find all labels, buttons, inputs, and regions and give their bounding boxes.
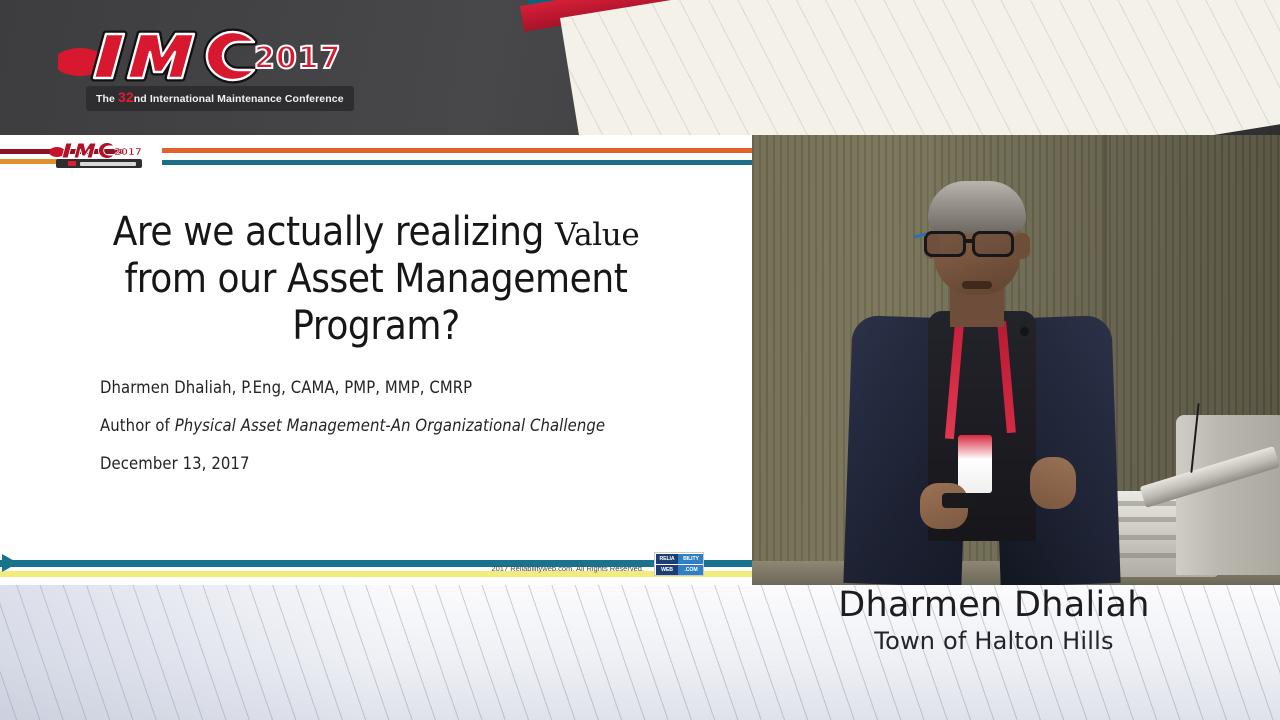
slide-header-bars: 2017 [0,135,752,183]
slide-bar-orange-right [162,148,752,153]
conference-banner: 2017 The 32nd International Maintenance … [0,0,1280,135]
tagline-number: 32 [118,89,134,105]
speaker-name: Dharmen Dhaliah [784,587,1204,625]
badge-word-web: WEB [656,565,678,575]
speaker-hair [928,181,1026,233]
slide-logo-tagline-text [80,162,136,166]
slide-bar-teal-right [162,160,752,165]
slide-title-part1: Are we actually realizing [113,209,555,255]
slide-footer-bars: 2017 Reliabilityweb.com. All Rights Rese… [0,545,752,585]
speaker-organization: Town of Halton Hills [784,627,1204,655]
badge-word-bility: BILITY [678,554,704,564]
badge-word-com: .COM [678,565,704,575]
eyeglass-lens-right [972,231,1014,257]
svg-text:2017: 2017 [114,147,142,158]
banner-hatch-pattern [560,0,1280,135]
imc-wordmark-icon: 2017 [58,22,358,88]
slide-pane[interactable]: 2017 Are we actually realizing Value fro… [0,135,752,585]
slide-title-part2: from our Asset Management Program? [125,256,628,349]
banner-white-hatch-wedge [560,0,1280,135]
slide-logo-accent [68,161,76,166]
slide-copyright: 2017 Reliabilityweb.com. All Rights Rese… [491,564,644,573]
speaker-video[interactable] [752,135,1280,585]
slide-book-title: Physical Asset Management-An Organizatio… [175,416,605,435]
presentation-clicker [942,493,976,508]
svg-text:2017: 2017 [254,41,342,76]
slide-subtitle-block: Dharmen Dhaliah, P.Eng, CAMA, PMP, MMP, … [100,378,720,492]
imc-tagline: The 32nd International Maintenance Confe… [86,86,354,111]
tagline-post: International Maintenance Conference [147,93,344,105]
slide-date-line: December 13, 2017 [100,454,720,473]
slide-author-prefix: Author of [100,416,175,435]
eyeglass-bridge [966,239,974,243]
lower-third-shading [0,585,470,720]
speaker-identification: Dharmen Dhaliah Town of Halton Hills [784,587,1204,655]
podium-column [1176,415,1280,575]
presentation-player: 2017 The 32nd International Maintenance … [0,0,1280,720]
speaker-hand-right [1030,457,1076,509]
reliabilityweb-logo: RELIA BILITY WEB .COM [654,552,704,576]
eyeglasses-icon [922,231,1034,257]
badge-word-relia: RELIA [656,554,678,564]
lapel-microphone-icon [1020,327,1029,336]
slide-credentials-line: Dharmen Dhaliah, P.Eng, CAMA, PMP, MMP, … [100,378,720,397]
slide-imc-wordmark-icon: 2017 [50,139,146,161]
lower-third-bar: Dharmen Dhaliah Town of Halton Hills [0,585,1280,720]
reliabilityweb-logo-row1: RELIA BILITY [656,554,704,564]
speaker-mouth [962,281,992,289]
slide-title: Are we actually realizing Value from our… [96,209,656,351]
reliabilityweb-logo-row2: WEB .COM [656,565,704,575]
slide-imc-logo: 2017 [50,137,146,177]
tagline-ordinal: nd [134,93,147,105]
slide-logo-tagline-bar [56,159,142,168]
slide-title-emphasis: Value [555,217,639,253]
slide-footer-triangle-icon [2,554,18,572]
tagline-pre: The [96,93,118,105]
conference-badge [958,435,992,493]
slide-author-line: Author of Physical Asset Management-An O… [100,416,720,435]
eyeglass-lens-left [924,231,966,257]
imc-logo: 2017 The 32nd International Maintenance … [58,22,358,118]
